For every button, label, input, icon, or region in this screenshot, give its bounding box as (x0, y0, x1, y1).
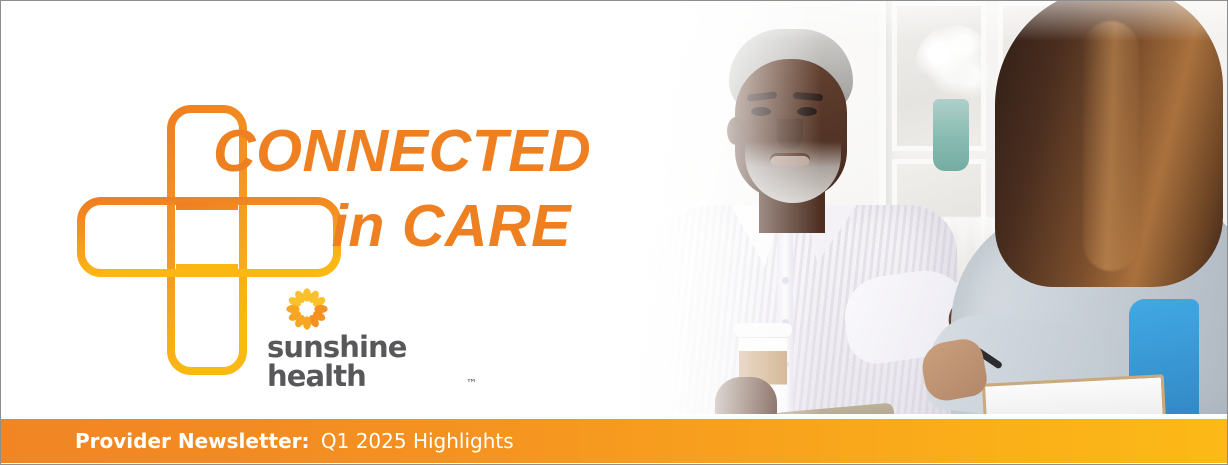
provider-and-member-conversation-photo (561, 1, 1227, 414)
newsletter-header-banner: CONNECTED in CARE (0, 0, 1228, 465)
wordmark-line-1: CONNECTED (213, 123, 583, 180)
man-ear (727, 117, 745, 145)
sunshine-health-logo: sunshine health ™ (267, 287, 477, 391)
footer-label: Provider Newsletter: (75, 429, 310, 453)
sunshine-health-wordmark: sunshine health ™ (267, 333, 477, 391)
footer-text: Provider Newsletter: Q1 2025 Highlights (75, 429, 514, 453)
woman-hair-highlight (1083, 21, 1139, 271)
wordmark: CONNECTED in CARE (213, 123, 583, 254)
photo-canvas (561, 1, 1227, 414)
footer-value: Q1 2025 Highlights (321, 429, 514, 453)
man-eye-right (797, 107, 817, 116)
footer-banner: Provider Newsletter: Q1 2025 Highlights (1, 419, 1227, 463)
man-mouth (770, 153, 810, 166)
care-manager-with-clipboard (933, 1, 1227, 414)
brand-lockup: CONNECTED in CARE (1, 1, 601, 414)
sunshine-health-name: sunshine health (267, 333, 464, 391)
coffee-cup-lid (734, 323, 792, 337)
trademark-symbol: ™ (466, 378, 477, 389)
wordmark-line-2: in CARE (213, 198, 583, 255)
man-hand-holding-cup (715, 377, 777, 414)
older-man-holding-coffee-cup (627, 29, 947, 414)
sunburst-icon (285, 287, 329, 331)
man-eye-left (751, 107, 771, 116)
shirt-button (782, 277, 789, 284)
